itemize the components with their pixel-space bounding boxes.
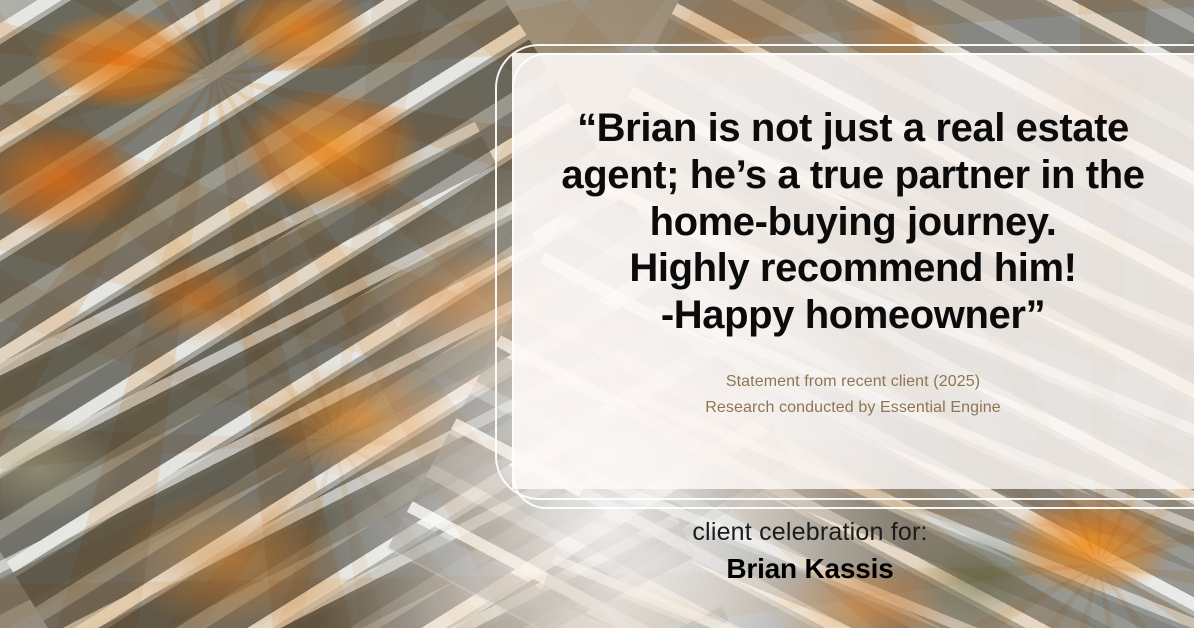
quote-text: “Brian is not just a real estate agent; …	[561, 105, 1144, 339]
testimonial-graphic: “Brian is not just a real estate agent; …	[0, 0, 1194, 628]
signature-lead-text: client celebration for:	[512, 518, 1108, 547]
attribution-block: Statement from recent client (2025) Rese…	[705, 369, 1001, 422]
quote-line: -Happy homeowner”	[561, 292, 1144, 339]
signature-block: client celebration for: Brian Kassis	[512, 518, 1194, 586]
signature-agent-name: Brian Kassis	[512, 551, 1108, 586]
testimonial-content: “Brian is not just a real estate agent; …	[512, 53, 1194, 489]
attribution-research: Research conducted by Essential Engine	[705, 395, 1001, 421]
quote-line: “Brian is not just a real estate	[561, 105, 1144, 152]
quote-line: home-buying journey.	[561, 199, 1144, 246]
attribution-source: Statement from recent client (2025)	[705, 369, 1001, 395]
quote-line: Highly recommend him!	[561, 245, 1144, 292]
quote-line: agent; he’s a true partner in the	[561, 152, 1144, 199]
